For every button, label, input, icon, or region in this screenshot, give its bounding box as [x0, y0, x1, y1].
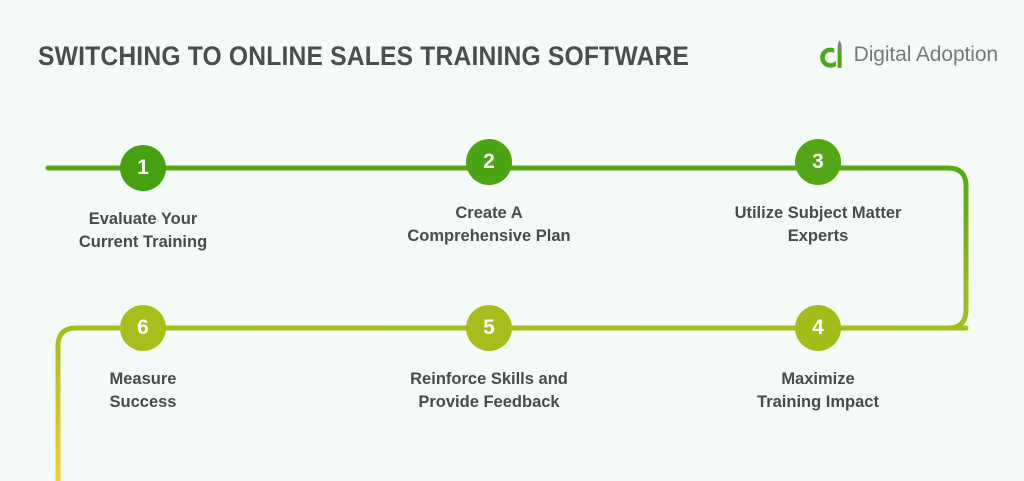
infographic-canvas: SWITCHING TO ONLINE SALES TRAINING SOFTW…: [0, 0, 1024, 481]
step-2-label: Create A Comprehensive Plan: [364, 202, 614, 249]
step-5-label: Reinforce Skills and Provide Feedback: [364, 368, 614, 415]
step-5[interactable]: 5 Reinforce Skills and Provide Feedback: [364, 305, 614, 415]
step-6[interactable]: 6 Measure Success: [18, 305, 268, 415]
step-2-number-badge[interactable]: 2: [466, 139, 512, 185]
brand-name: Digital Adoption: [854, 44, 998, 65]
page-title: SWITCHING TO ONLINE SALES TRAINING SOFTW…: [38, 43, 689, 70]
step-3-label: Utilize Subject Matter Experts: [693, 202, 943, 249]
step-6-number-badge[interactable]: 6: [120, 305, 166, 351]
step-1-label: Evaluate Your Current Training: [18, 208, 268, 255]
step-4[interactable]: 4 Maximize Training Impact: [693, 305, 943, 415]
step-3-number-badge[interactable]: 3: [795, 139, 841, 185]
step-4-number-badge[interactable]: 4: [795, 305, 841, 351]
digital-adoption-logo-icon: [819, 39, 847, 69]
step-5-number-badge[interactable]: 5: [466, 305, 512, 351]
brand-logo: Digital Adoption: [819, 37, 998, 71]
step-2[interactable]: 2 Create A Comprehensive Plan: [364, 139, 614, 249]
step-6-label: Measure Success: [18, 368, 268, 415]
step-1-number-badge[interactable]: 1: [120, 145, 166, 191]
header: SWITCHING TO ONLINE SALES TRAINING SOFTW…: [0, 0, 1024, 100]
step-1[interactable]: 1 Evaluate Your Current Training: [18, 145, 268, 255]
step-4-label: Maximize Training Impact: [693, 368, 943, 415]
step-3[interactable]: 3 Utilize Subject Matter Experts: [693, 139, 943, 249]
